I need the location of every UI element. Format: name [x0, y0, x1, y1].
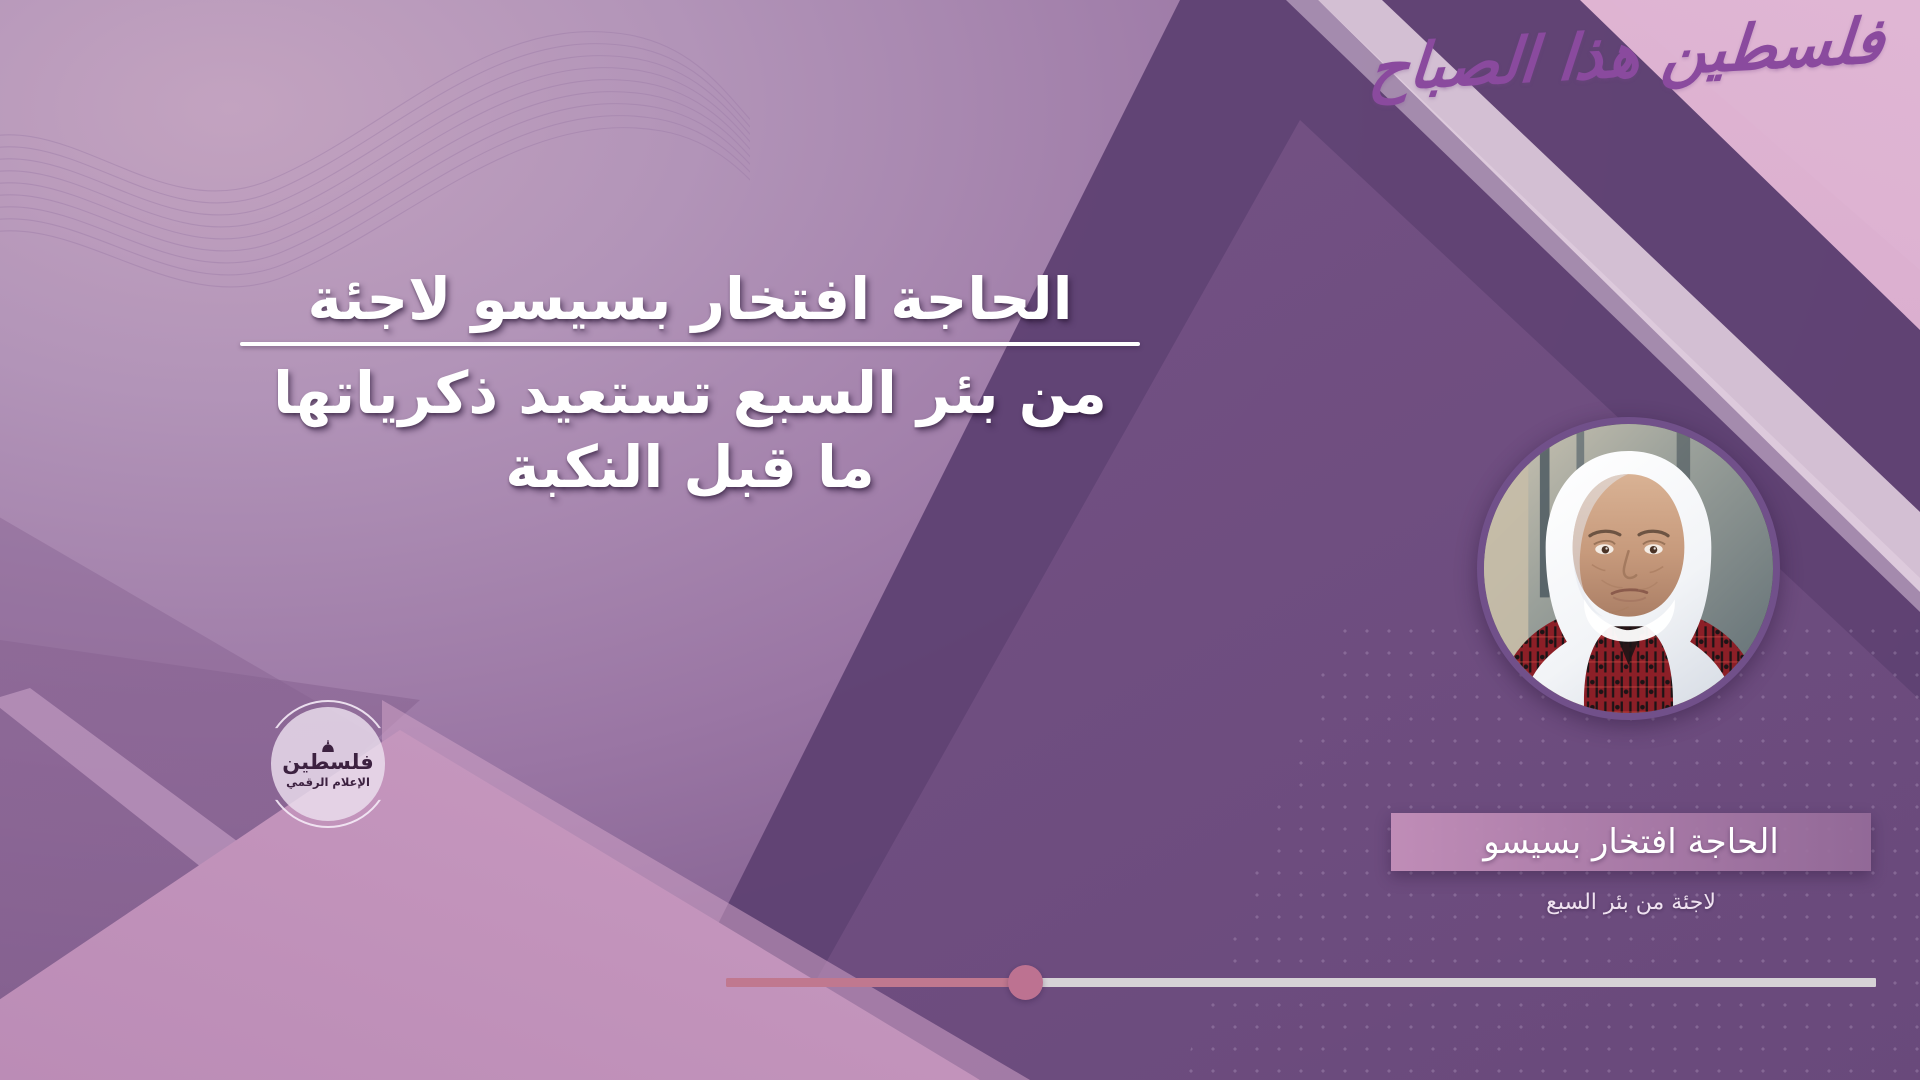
headline-line-2: من بئر السبع تستعيد ذكرياتها	[180, 356, 1200, 430]
headline-block: الحاجة افتخار بسيسو لاجئة من بئر السبع ت…	[180, 262, 1200, 505]
video-progress-bar[interactable]	[726, 978, 1876, 988]
headline-divider	[240, 342, 1140, 346]
watermark-logo: فلسطين الإعلام الرقمي	[264, 700, 392, 828]
headline-line-1: الحاجة افتخار بسيسو لاجئة	[180, 262, 1200, 336]
progress-knob-handle[interactable]	[1008, 965, 1043, 1000]
video-frame: فلسطين هذا الصباح الحاجة افتخار بسيسو لا…	[0, 0, 1920, 1080]
guest-name-banner: الحاجة افتخار بسيسو	[1391, 813, 1871, 871]
headline-line-3: ما قبل النكبة	[180, 430, 1200, 504]
guest-portrait-avatar	[1477, 417, 1780, 720]
guest-description-text: لاجئة من بئر السبع	[1391, 890, 1871, 915]
progress-fill	[726, 978, 1025, 987]
guest-name-text: الحاجة افتخار بسيسو	[1483, 822, 1779, 862]
portrait-image	[1484, 424, 1773, 713]
watermark-disc: فلسطين الإعلام الرقمي	[271, 707, 385, 821]
watermark-main-text: فلسطين	[282, 752, 374, 773]
watermark-sub-text: الإعلام الرقمي	[286, 775, 370, 789]
